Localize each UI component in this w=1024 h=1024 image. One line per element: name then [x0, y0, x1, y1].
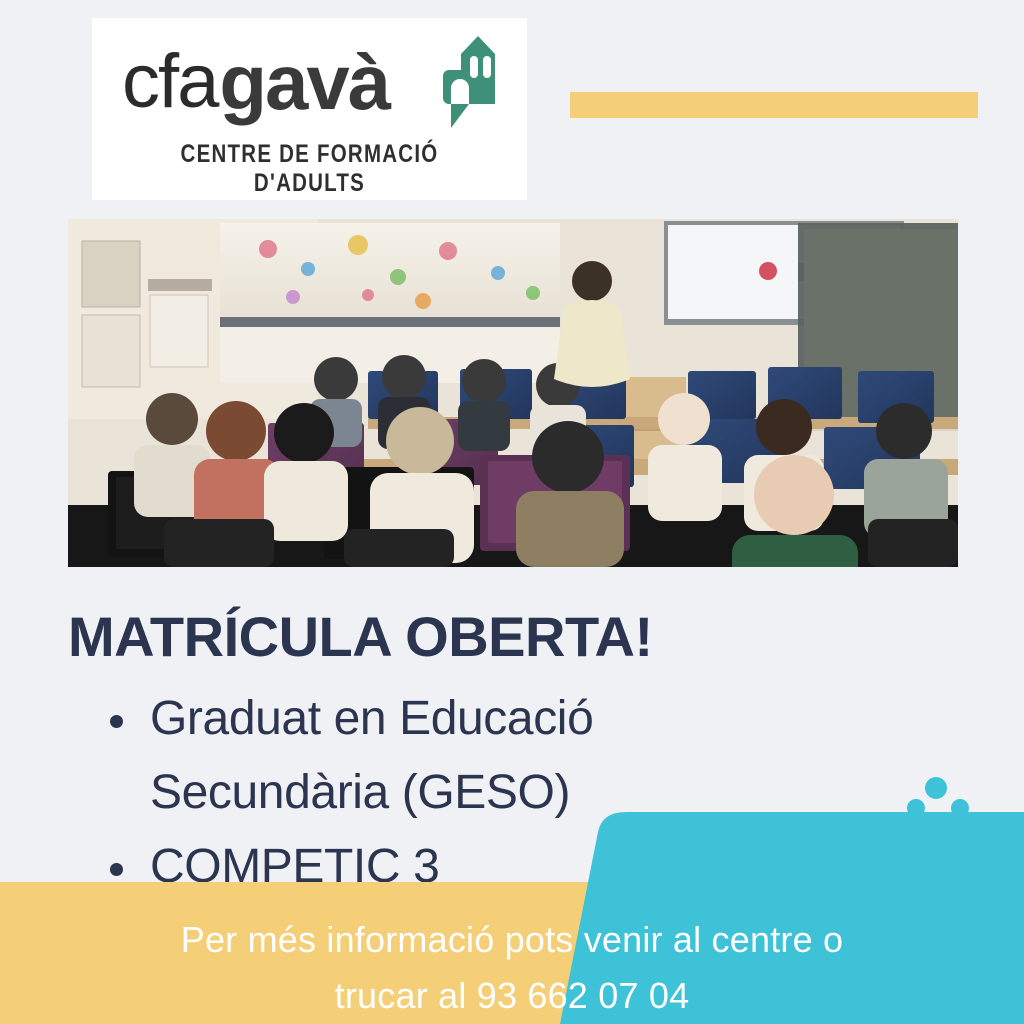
logo-word-gava: gavà	[219, 43, 389, 121]
yellow-accent-bar	[570, 92, 978, 118]
logo-word-cfa: cfa	[122, 44, 217, 120]
footer-line-1: Per més informació pots venir al centre …	[0, 912, 1024, 968]
classroom-photo	[68, 219, 958, 567]
page-title: MATRÍCULA OBERTA!	[68, 604, 653, 669]
dot-small-left	[907, 799, 925, 817]
dot-small-right	[951, 799, 969, 817]
logo-tagline: CENTRE DE FORMACIÓ D'ADULTS	[131, 140, 488, 198]
poster-canvas: cfagavà CENTRE DE FORMACIÓ D'ADULTS	[0, 0, 1024, 1024]
building-tower-icon	[431, 32, 511, 132]
logo-card: cfagavà CENTRE DE FORMACIÓ D'ADULTS	[92, 18, 527, 200]
teal-dots-decoration	[890, 770, 1000, 820]
footer-contact-text: Per més informació pots venir al centre …	[0, 912, 1024, 1024]
dot-large	[925, 777, 947, 799]
footer-line-2: trucar al 93 662 07 04	[0, 968, 1024, 1024]
